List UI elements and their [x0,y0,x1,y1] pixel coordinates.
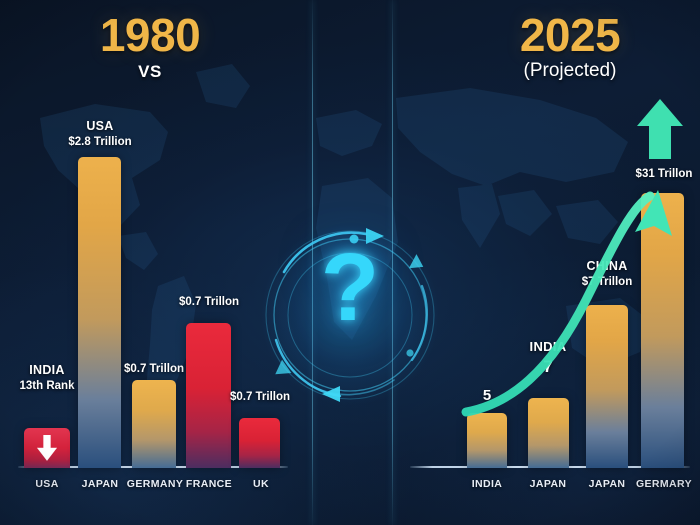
bar-value-right-3: $31 Trillon [616,167,700,183]
bar-right-3[interactable] [641,193,684,468]
bar-left-2[interactable] [132,380,176,468]
bar-right-2[interactable] [586,305,628,468]
x-tick-right-0: INDIA [457,478,517,490]
up-arrow-icon [636,98,684,160]
x-tick-right-2: JAPAN [576,478,638,490]
bar-caption-left-3: $0.7 Trillon [161,295,257,311]
x-tick-left-3: FRANCE [177,478,241,490]
question-mark-icon: ? [262,240,438,336]
chart-1980: INDIA 13th Rank USA $2.8 Trillion $0.7 T… [0,0,300,525]
bar-caption-right-1: INDIA 7 [508,338,588,378]
bar-label-right-1: INDIA [508,338,588,356]
bar-value-right-0: 5 [457,386,517,406]
bar-right-1[interactable] [528,398,569,468]
down-arrow-icon [36,435,58,461]
bar-value-left-3: $0.7 Trillon [161,295,257,311]
bar-left-1[interactable] [78,157,121,468]
bar-value-right-1: 7 [508,356,588,379]
bar-label-left-1: USA [44,118,156,135]
x-tick-right-1: JAPAN [517,478,579,490]
chart-2025-projected: 5 INDIA 7 CHINA $7 Trillon $31 Trillon I… [400,0,700,525]
bar-value-left-1: $2.8 Trillion [44,135,156,151]
bar-caption-right-0: 5 [457,386,517,406]
bar-caption-right-3: $31 Trillon [616,167,700,183]
x-tick-left-0: USA [19,478,75,490]
bar-left-0[interactable] [24,428,70,468]
center-question-badge: ? [262,220,438,410]
bar-caption-left-1: USA $2.8 Trillion [44,118,156,150]
x-tick-left-4: UK [237,478,285,490]
bar-right-0[interactable] [467,413,507,468]
infographic-canvas: 1980 VS 2025 (Projected) INDIA 13th Rank… [0,0,700,525]
x-tick-right-3: GERMARY [630,478,698,490]
bar-left-4[interactable] [239,418,280,468]
